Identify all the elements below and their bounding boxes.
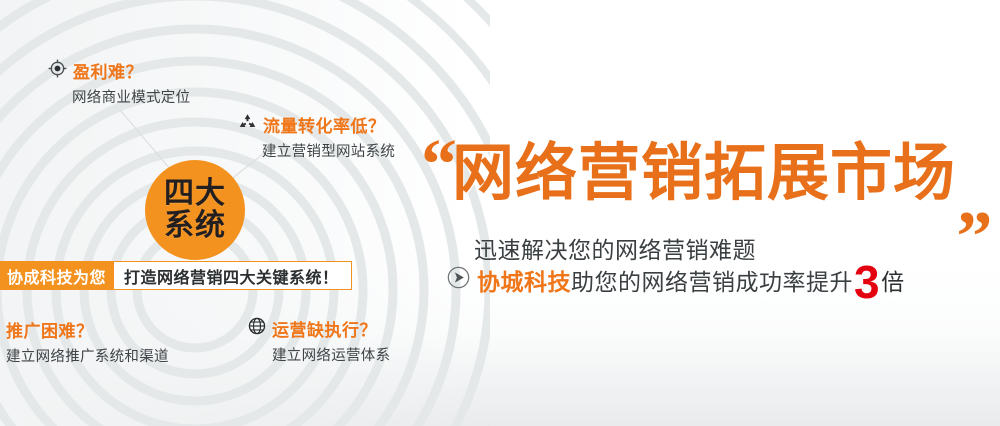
callout-subtitle: 建立营销型网站系统 xyxy=(262,140,395,161)
hero-line2-text: 助您的网络营销成功率提升 xyxy=(571,263,853,297)
callout-promotion[interactable]: 推广困难？ 建立网络推广系统和渠道 xyxy=(6,317,169,366)
hero-multiplier-number: 3 xyxy=(853,264,881,301)
callout-subtitle: 网络商业模式定位 xyxy=(72,86,190,107)
recycle-icon xyxy=(238,113,257,137)
marketing-banner: 四大 系统 盈利难？ 网络商业模式定位 xyxy=(0,0,1000,426)
quote-close-icon: „ xyxy=(957,163,993,235)
callout-subtitle: 建立网络推广系统和渠道 xyxy=(6,345,169,366)
hero-subline-1: 迅速解决您的网络营销难题 xyxy=(474,231,756,265)
callout-subtitle: 建立网络运营体系 xyxy=(272,344,390,365)
hero-brand-name: 协城科技 xyxy=(477,263,571,297)
callout-operations[interactable]: 运营缺执行？ 建立网络运营体系 xyxy=(248,316,390,365)
callout-title: 运营缺执行？ xyxy=(272,316,377,341)
crosshair-target-icon xyxy=(48,59,67,83)
promise-bar-message: 打造网络营销四大关键系统！ xyxy=(114,262,351,289)
promise-bar-brand: 协成科技为您 xyxy=(0,262,114,289)
hero-subline-2: 协城科技 助您的网络营销成功率提升 3 倍 xyxy=(447,262,905,299)
callout-title: 推广困难？ xyxy=(6,317,94,342)
core-circle-four-systems: 四大 系统 xyxy=(145,160,245,260)
callout-title: 流量转化率低？ xyxy=(263,112,386,137)
globe-icon xyxy=(248,317,266,340)
play-circle-icon[interactable] xyxy=(447,266,470,294)
core-label-line2: 系统 xyxy=(164,211,226,242)
callout-title: 盈利难？ xyxy=(73,58,143,83)
callout-conversion[interactable]: 流量转化率低？ 建立营销型网站系统 xyxy=(238,112,395,161)
callout-profit[interactable]: 盈利难？ 网络商业模式定位 xyxy=(48,58,190,107)
core-label-line1: 四大 xyxy=(164,179,226,210)
hero-multiplier-unit: 倍 xyxy=(881,263,905,297)
promise-bar: 协成科技为您 打造网络营销四大关键系统！ xyxy=(0,261,352,290)
hero-headline: 网络营销拓展市场 xyxy=(452,143,956,205)
